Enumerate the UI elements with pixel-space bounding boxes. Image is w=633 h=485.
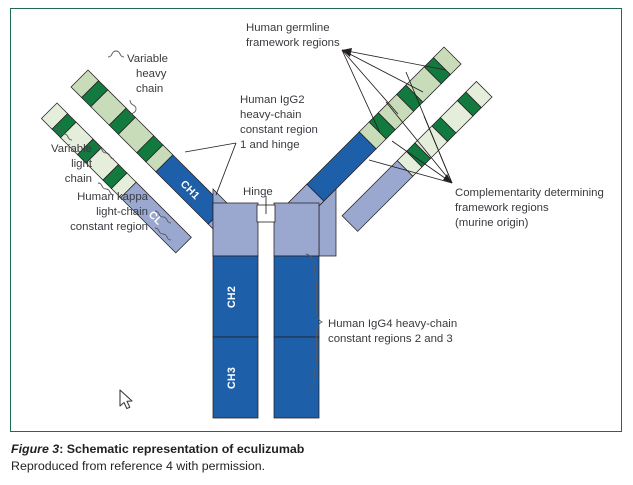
ch3-label: CH3 [226, 367, 238, 389]
label-line: framework regions [455, 202, 549, 214]
label-line: constant region [70, 221, 148, 233]
label-line: chain [65, 173, 92, 185]
mouse-pointer-icon [120, 390, 132, 409]
label-line: Human kappa [77, 191, 149, 203]
leader-gf-4 [342, 50, 446, 70]
antibody-diagram: CH1 CL [0, 0, 633, 440]
figure-eculizumab-schematic: CH1 CL [0, 0, 633, 485]
leader-gf-2 [342, 50, 398, 114]
right-hinge-block [274, 203, 319, 256]
figure-caption: Figure 3: Schematic representation of ec… [11, 441, 611, 475]
leader-gf-3 [342, 50, 423, 92]
label-line: Human IgG4 heavy-chain [328, 318, 457, 330]
label-line: heavy-chain [240, 109, 301, 121]
caption-title-line: Figure 3: Schematic representation of ec… [11, 441, 611, 457]
label-line: Human IgG2 [240, 94, 305, 106]
label-line: framework regions [246, 37, 340, 49]
label-line: Variable [127, 53, 168, 65]
label-igg4-constant-regions: Human IgG4 heavy-chain constant regions … [306, 254, 457, 390]
leader-gf-1 [342, 50, 380, 133]
label-line: light-chain [96, 206, 148, 218]
ch1-domain [307, 132, 376, 201]
label-igg2-constant-region: Human IgG2 heavy-chain constant region 1… [185, 94, 318, 195]
label-line: chain [136, 83, 163, 95]
label-line: 1 and hinge [240, 139, 300, 151]
label-hinge: Hinge [243, 186, 273, 198]
left-hinge-block [213, 203, 258, 256]
label-line: Variable [51, 143, 92, 155]
label-line: Human germline [246, 22, 330, 34]
caption-credit-line: Reproduced from reference 4 with permiss… [11, 458, 611, 474]
label-line: (murine origin) [455, 217, 529, 229]
label-line: constant region [240, 124, 318, 136]
caption-title-text: : Schematic representation of eculizumab [59, 442, 304, 456]
caption-figure-number: Figure 3 [11, 442, 59, 456]
leader-to-hinge-seg [216, 143, 236, 195]
right-ch2-domain [274, 256, 319, 337]
label-line: Complementarity determining [455, 187, 604, 199]
label-line: heavy [136, 68, 167, 80]
ch2-label: CH2 [226, 286, 238, 308]
brace-top [108, 51, 124, 57]
label-line: light [71, 158, 93, 170]
right-ch3-domain [274, 337, 319, 418]
leader-to-ch1 [185, 143, 236, 152]
label-line: constant regions 2 and 3 [328, 333, 453, 345]
